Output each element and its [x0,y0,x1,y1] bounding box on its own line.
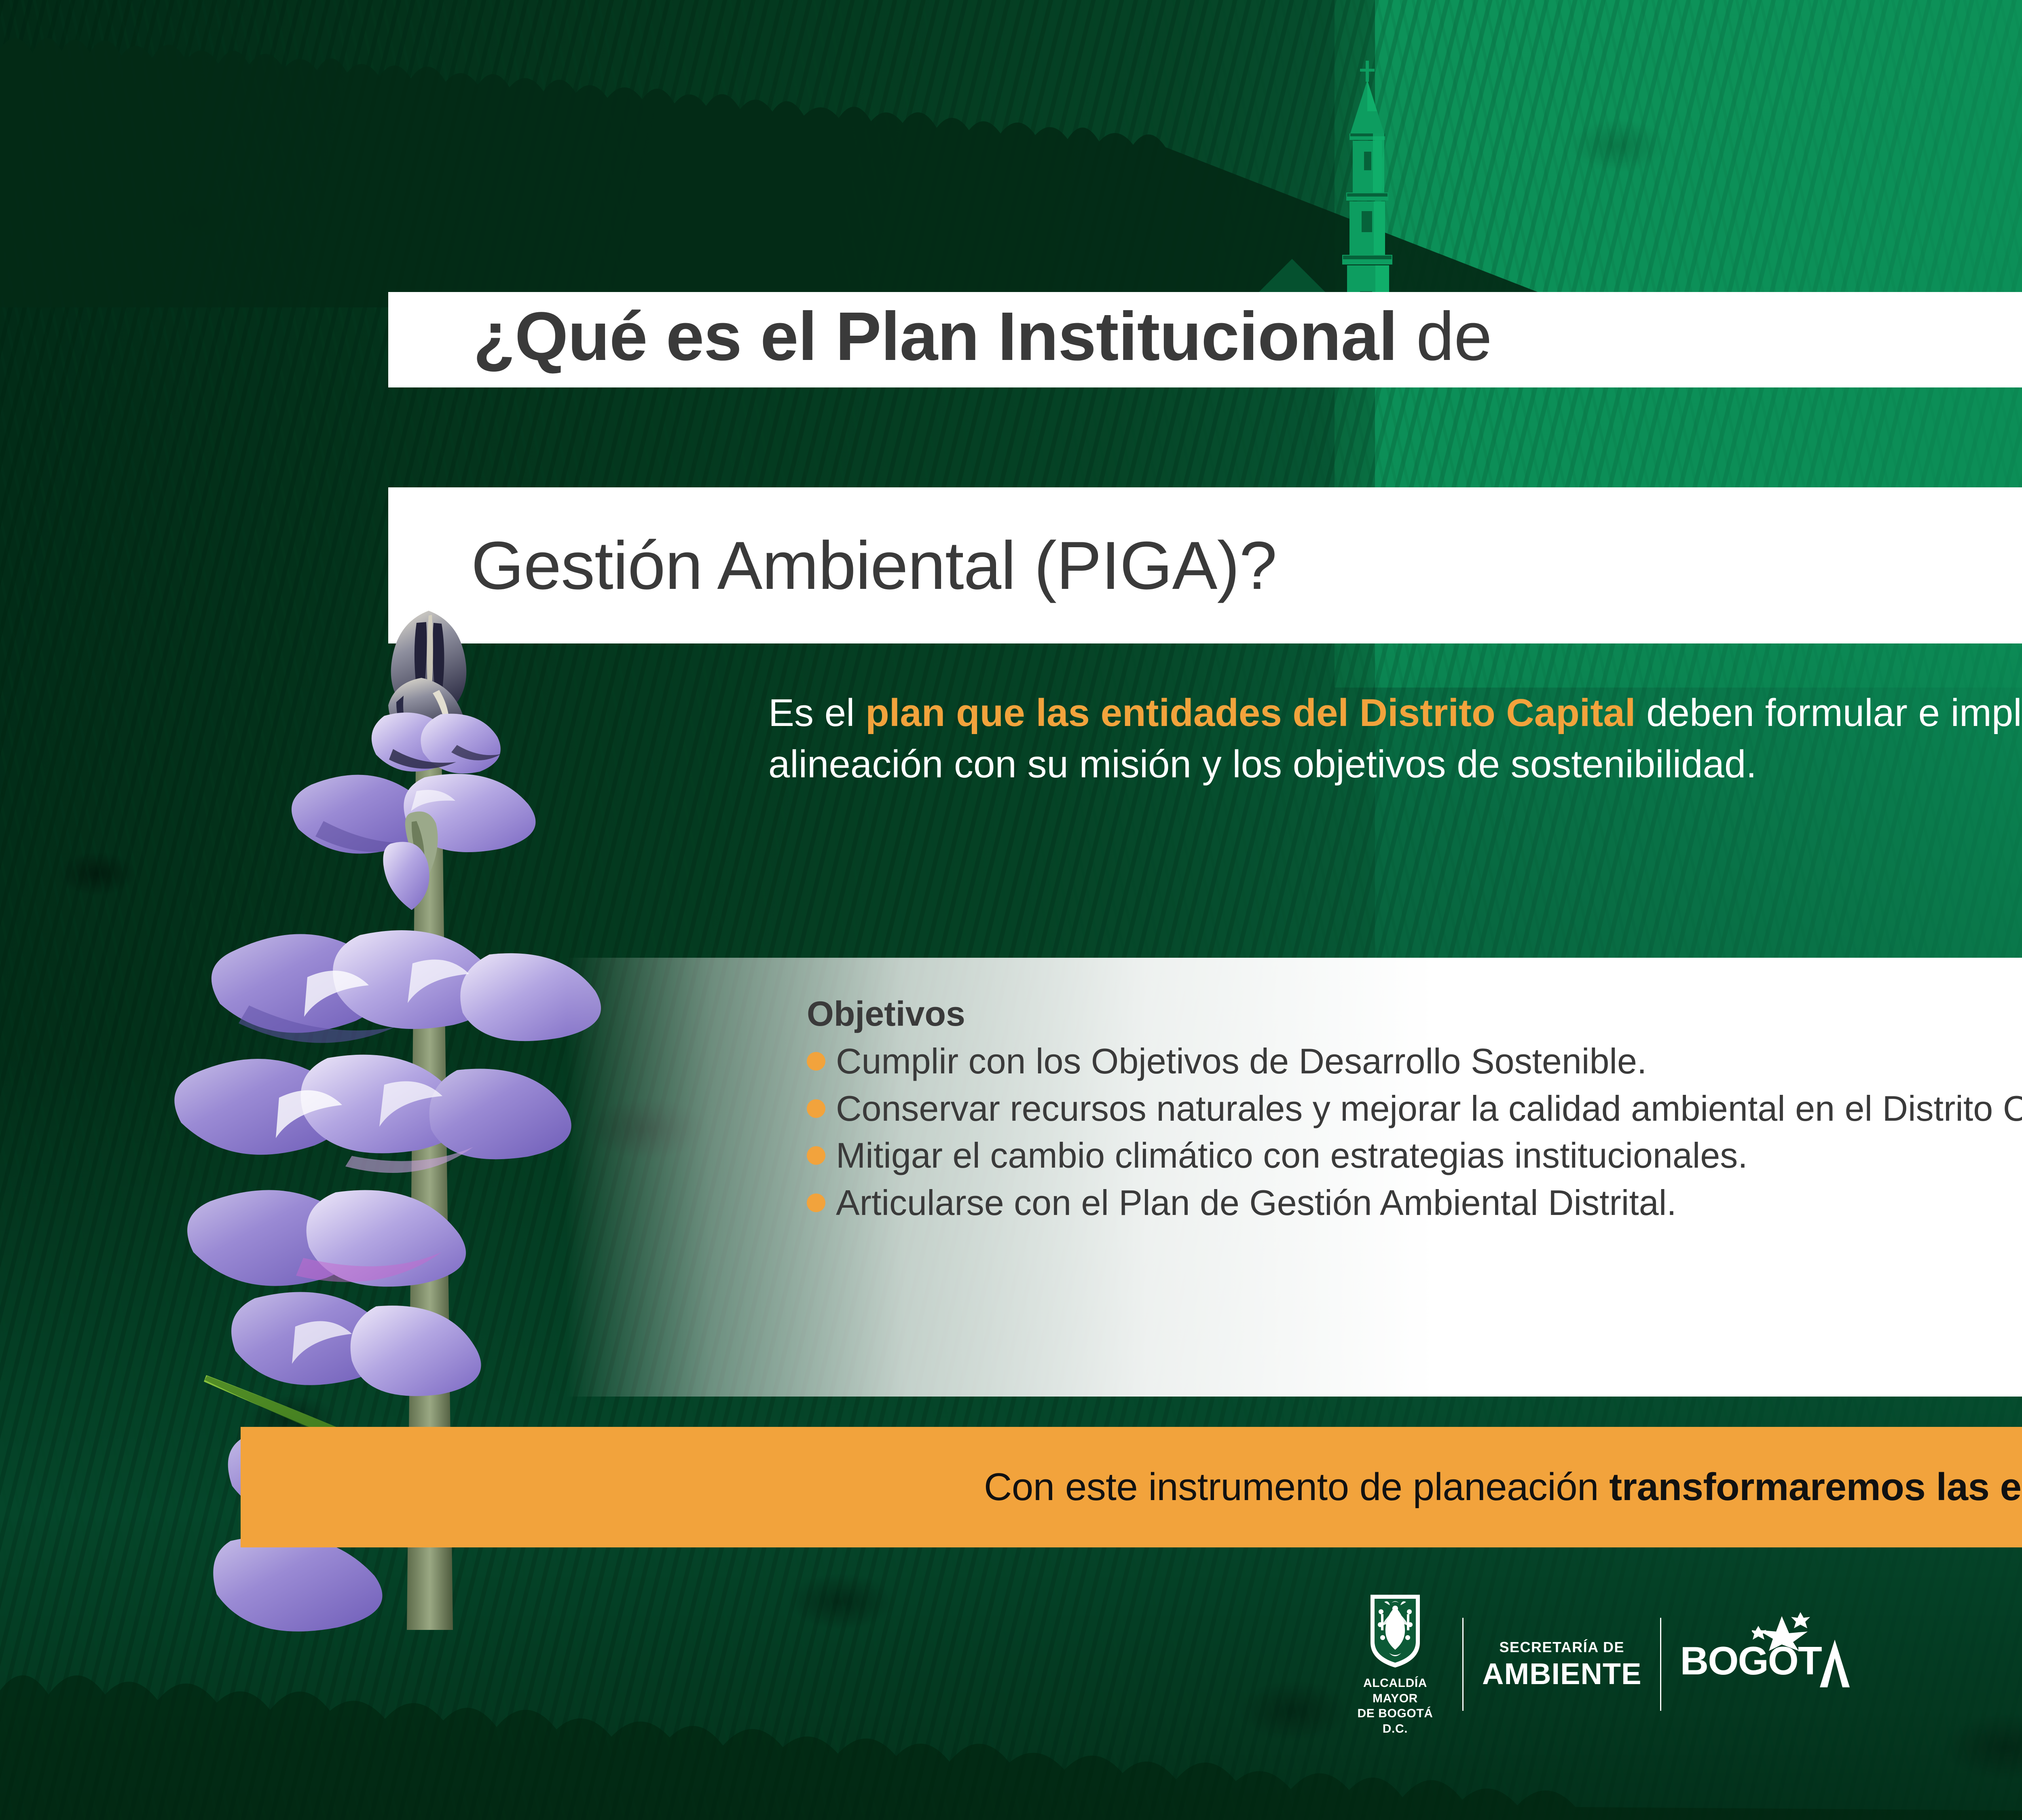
objective-text: Articularse con el Plan de Gestión Ambie… [836,1183,1677,1223]
objective-text: Conservar recursos naturales y mejorar l… [836,1089,2022,1129]
footer-logos: ALCALDÍA MAYOR DE BOGOTÁ D.C. SECRETARÍA… [1347,1600,1921,1729]
objectives-list: Cumplir con los Objetivos de Desarrollo … [807,1041,2022,1223]
alcaldia-line2: DE BOGOTÁ D.C. [1347,1706,1444,1736]
bogota-coat-of-arms-icon [1365,1592,1426,1669]
cta-banner: Con este instrumento de planeación trans… [241,1427,2022,1547]
list-item: Mitigar el cambio climático con estrateg… [807,1136,2022,1176]
alcaldia-line1: ALCALDÍA MAYOR [1347,1676,1444,1706]
alcaldia-logo: ALCALDÍA MAYOR DE BOGOTÁ D.C. [1347,1592,1444,1736]
bullet-dot-icon [807,1146,825,1165]
list-item: Cumplir con los Objetivos de Desarrollo … [807,1041,2022,1081]
church-steeple-icon [1256,12,1506,332]
page-title-bold: ¿Qué es el Plan Institucional [473,298,1397,375]
intro-paragraph: Es el plan que las entidades del Distrit… [768,688,2022,790]
bullet-dot-icon [807,1099,825,1118]
bullet-dot-icon [807,1052,825,1071]
secretaria-line1: SECRETARÍA DE [1482,1639,1641,1656]
bullet-dot-icon [807,1194,825,1212]
footer-divider-2 [1660,1618,1661,1711]
objectives-panel: Objetivos Cumplir con los Objetivos de D… [566,958,2022,1397]
alcaldia-caption: ALCALDÍA MAYOR DE BOGOTÁ D.C. [1347,1676,1444,1736]
secretaria-line2: AMBIENTE [1482,1658,1641,1690]
cta-normal: Con este instrumento de planeación [984,1465,1609,1509]
list-item: Articularse con el Plan de Gestión Ambie… [807,1183,2022,1223]
intro-highlight: plan que las entidades del Distrito Capi… [865,691,1635,734]
cta-text: Con este instrumento de planeación trans… [984,1465,2022,1509]
objectives-content: Objetivos Cumplir con los Objetivos de D… [807,994,2022,1230]
bogota-wordmark-text: BOGOT [1680,1643,1821,1678]
objective-text: Cumplir con los Objetivos de Desarrollo … [836,1041,1647,1081]
footer-divider-1 [1462,1618,1464,1711]
page-title-line-2: Gestión Ambiental (PIGA)? [471,531,1277,599]
list-item: Conservar recursos naturales y mejorar l… [807,1089,2022,1129]
poster-canvas: AQUÍ SÍ PASA BOGOT MI CIUDAD MI CASA ¿Qu… [0,0,2022,1820]
objective-text: Mitigar el cambio climático con estrateg… [836,1136,1748,1176]
secretaria-ambiente-logo: SECRETARÍA DE AMBIENTE [1482,1639,1641,1690]
cta-bold: transformaremos las entidades del Distri… [1609,1465,2022,1509]
intro-before: Es el [768,691,865,734]
title-box-line-1: ¿Qué es el Plan Institucional de [388,292,2022,387]
bogota-wordmark-logo: BOGOT [1680,1618,1842,1711]
bogota-a-chevron-footer-icon [1820,1640,1850,1687]
objectives-heading: Objetivos [807,994,2022,1034]
page-title-light: de [1397,298,1491,375]
page-title-line-1: ¿Qué es el Plan Institucional de [473,302,1492,371]
